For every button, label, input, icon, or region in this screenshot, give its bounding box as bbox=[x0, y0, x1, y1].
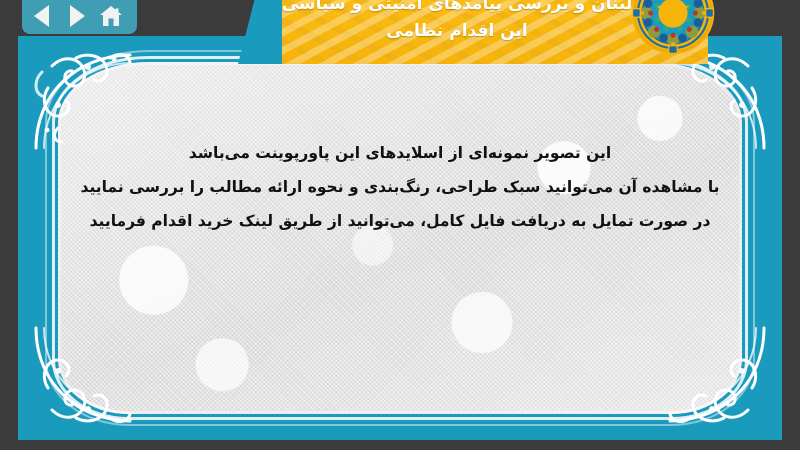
slide-navigation-toolbar bbox=[22, 0, 137, 34]
body-line-1: این تصویر نمونه‌ای از اسلایدهای این پاور… bbox=[78, 136, 722, 170]
slide-body-text: این تصویر نمونه‌ای از اسلایدهای این پاور… bbox=[78, 136, 722, 238]
next-slide-button[interactable] bbox=[60, 0, 94, 32]
body-line-2: با مشاهده آن می‌توانید سبک طراحی، رنگ‌بن… bbox=[78, 170, 722, 204]
slide-title-band: تحلیل حملات رژیم صهیونیستی به جنوب لبنان… bbox=[238, 0, 708, 64]
previous-slide-button[interactable] bbox=[24, 0, 58, 32]
presentation-viewer: این تصویر نمونه‌ای از اسلایدهای این پاور… bbox=[0, 0, 800, 450]
home-button[interactable] bbox=[94, 0, 128, 32]
home-icon bbox=[99, 5, 123, 27]
triangle-right-icon bbox=[70, 5, 85, 27]
circular-medallion-ornament-icon bbox=[630, 0, 716, 56]
slide-content-panel bbox=[58, 62, 742, 414]
body-line-3: در صورت تمایل به دریافت فایل کامل، می‌تو… bbox=[78, 204, 722, 238]
title-band-accent bbox=[238, 0, 288, 64]
triangle-left-icon bbox=[34, 5, 49, 27]
slide-canvas: این تصویر نمونه‌ای از اسلایدهای این پاور… bbox=[18, 36, 782, 440]
